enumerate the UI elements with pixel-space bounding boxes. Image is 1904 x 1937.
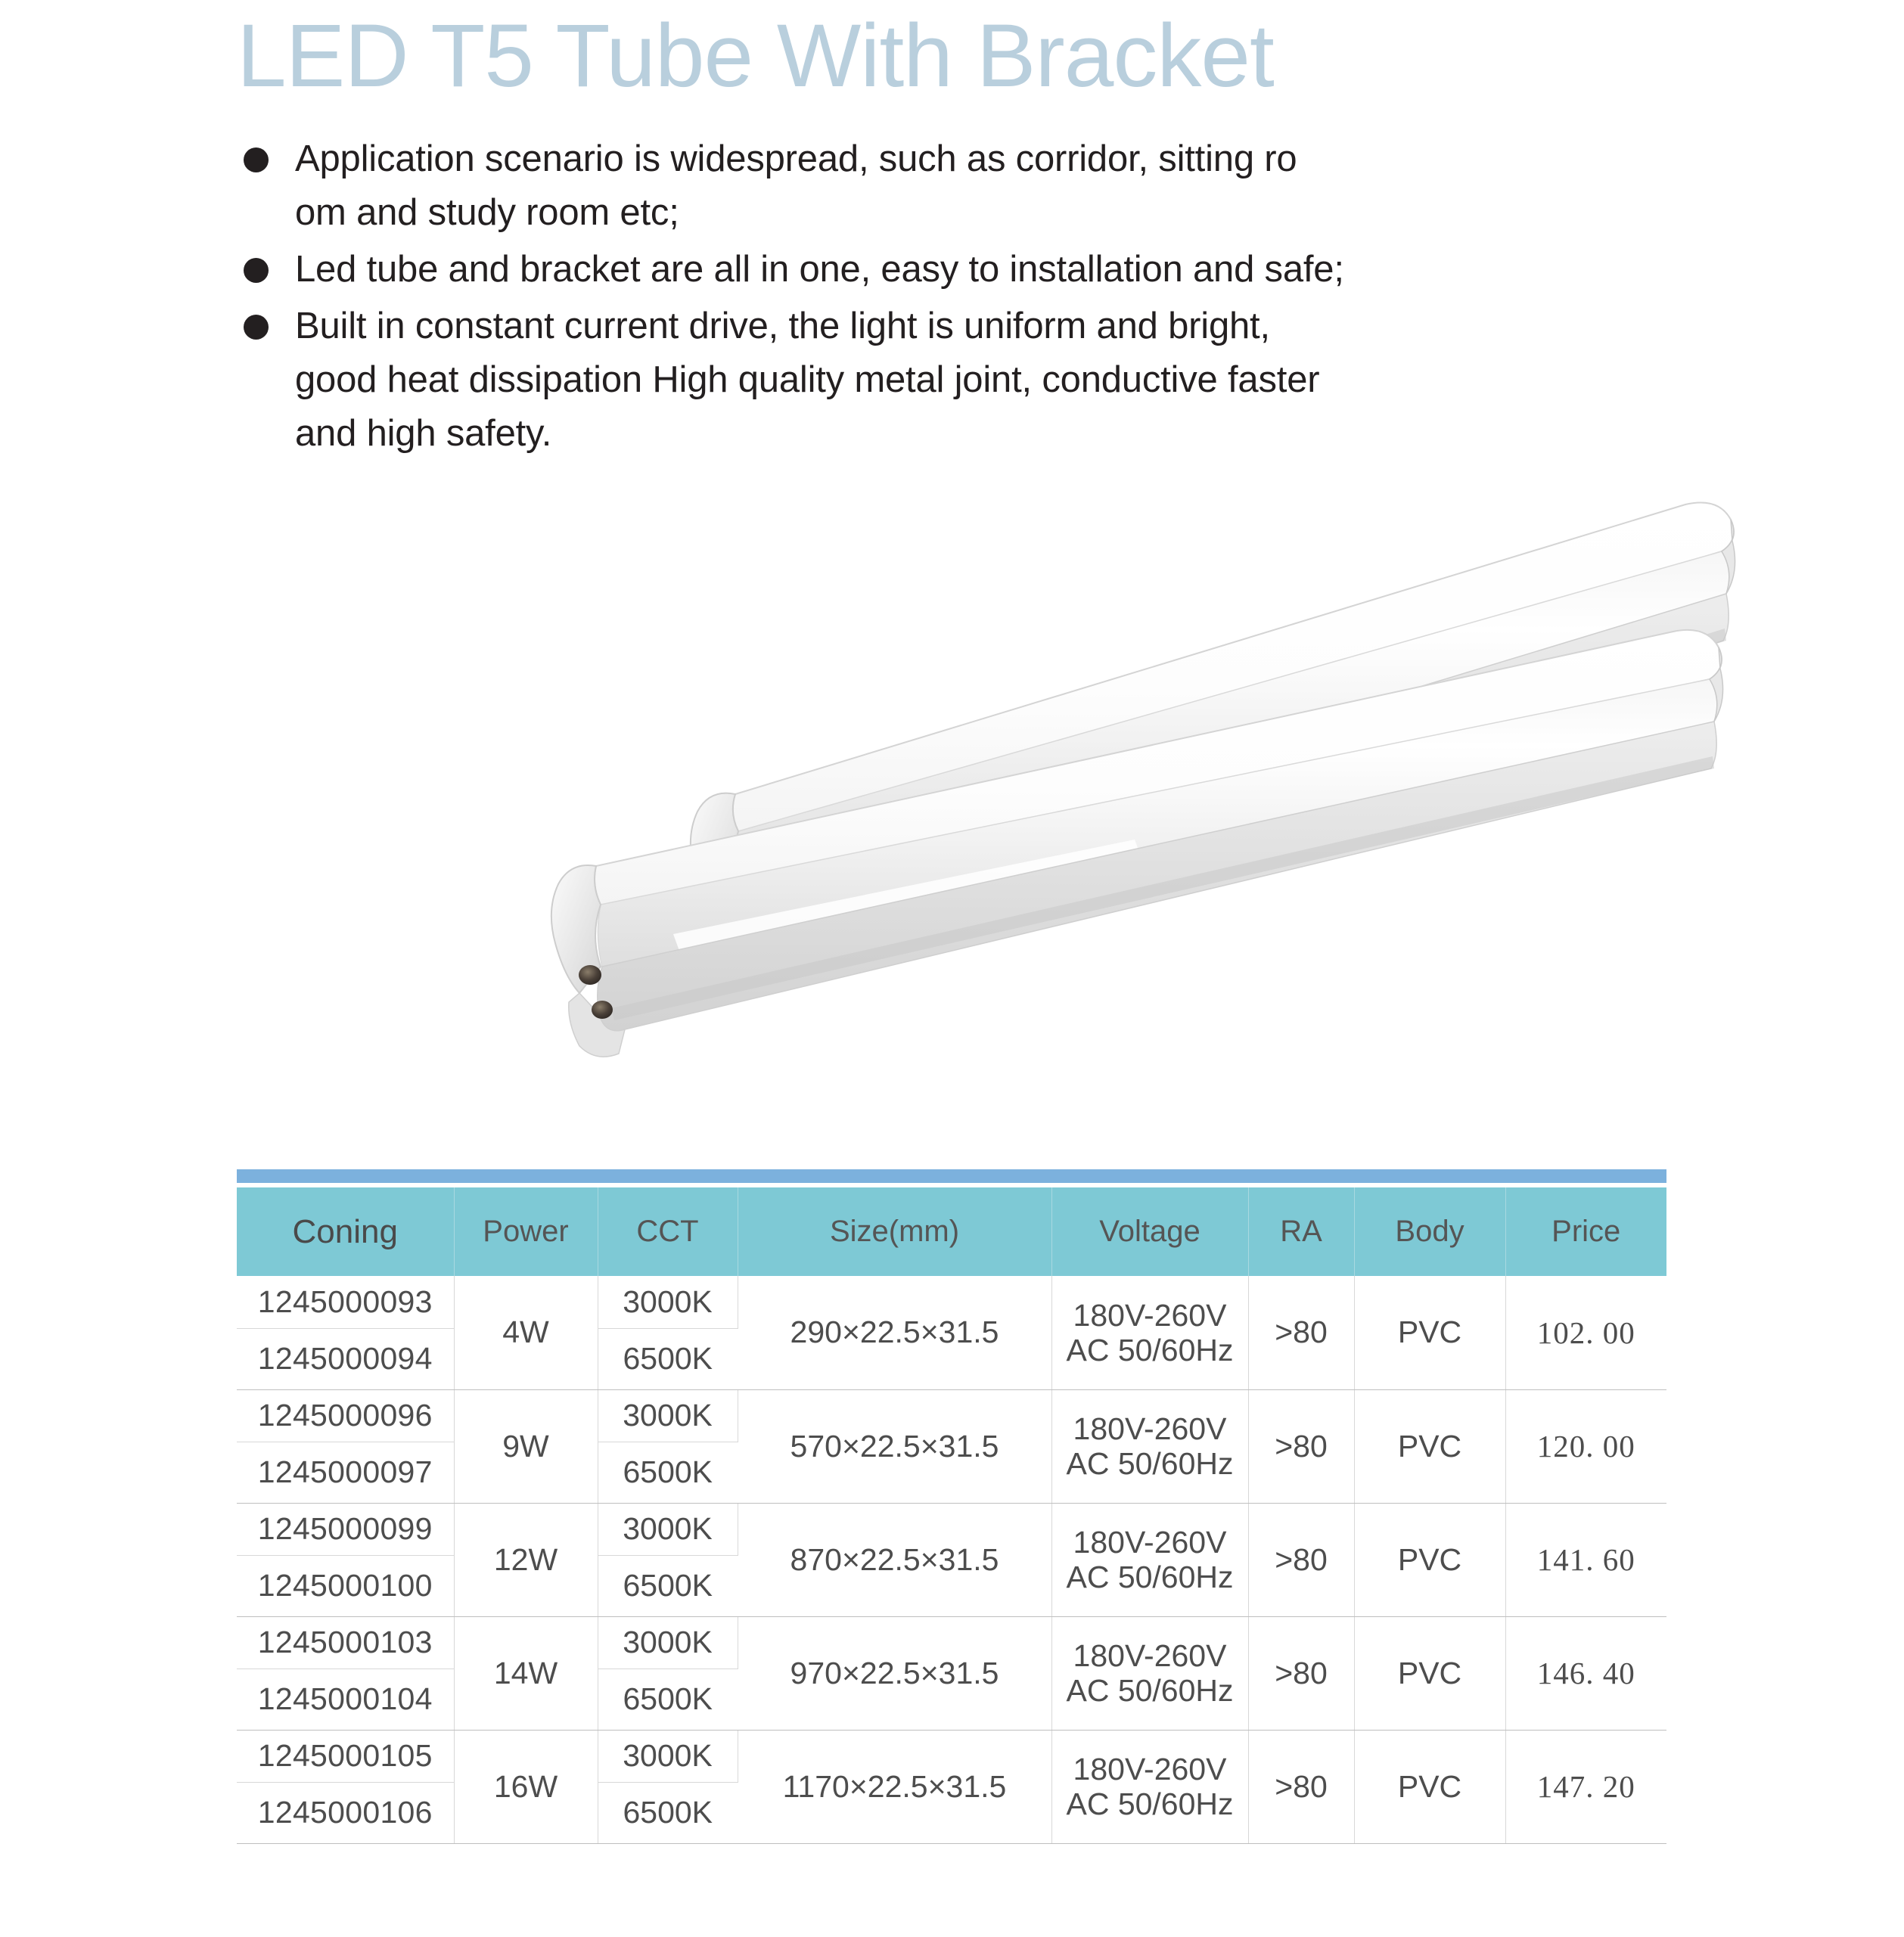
voltage-line-2: AC 50/60Hz (1052, 1333, 1248, 1367)
cell-voltage: 180V-260V AC 50/60Hz (1051, 1389, 1248, 1503)
list-item: Built in constant current drive, the lig… (241, 300, 1617, 461)
cell-coning: 1245000106 (237, 1782, 454, 1843)
table-row: 1245000103 14W 3000K 970×22.5×31.5 180V-… (237, 1616, 1666, 1668)
cell-voltage: 180V-260V AC 50/60Hz (1051, 1730, 1248, 1843)
cell-coning: 1245000096 (237, 1389, 454, 1442)
cell-price: 146. 40 (1505, 1616, 1666, 1730)
column-header-coning: Coning (237, 1187, 454, 1276)
cell-cct: 6500K (598, 1668, 738, 1730)
cell-body: PVC (1354, 1276, 1505, 1389)
cell-cct: 3000K (598, 1389, 738, 1442)
cell-ra: >80 (1248, 1616, 1354, 1730)
cell-body: PVC (1354, 1389, 1505, 1503)
cell-cct: 6500K (598, 1555, 738, 1616)
table-accent-bar (237, 1169, 1666, 1183)
feature-list: Application scenario is widespread, such… (241, 132, 1617, 464)
product-image (454, 450, 1838, 1153)
cell-coning: 1245000100 (237, 1555, 454, 1616)
voltage-line-2: AC 50/60Hz (1052, 1446, 1248, 1481)
cell-power: 4W (454, 1276, 598, 1389)
voltage-line-1: 180V-260V (1052, 1411, 1248, 1446)
bullet-dot-icon (244, 258, 269, 283)
cell-cct: 6500K (598, 1782, 738, 1843)
cell-price: 120. 00 (1505, 1389, 1666, 1503)
cell-ra: >80 (1248, 1730, 1354, 1843)
cell-coning: 1245000094 (237, 1328, 454, 1389)
connector-hole (579, 965, 601, 985)
product-spec-sheet: LED T5 Tube With Bracket Application sce… (0, 0, 1904, 1937)
column-header-ra: RA (1248, 1187, 1354, 1276)
bullet-dot-icon (244, 315, 269, 340)
cell-coning: 1245000105 (237, 1730, 454, 1782)
cell-coning: 1245000093 (237, 1276, 454, 1328)
voltage-line-1: 180V-260V (1052, 1525, 1248, 1560)
specification-table: Coning Power CCT Size(mm) Voltage RA Bod… (237, 1187, 1666, 1844)
cell-ra: >80 (1248, 1503, 1354, 1616)
cell-size: 1170×22.5×31.5 (738, 1730, 1051, 1843)
table-row: 1245000093 4W 3000K 290×22.5×31.5 180V-2… (237, 1276, 1666, 1328)
cell-cct: 3000K (598, 1503, 738, 1555)
cell-ra: >80 (1248, 1389, 1354, 1503)
table-row: 1245000105 16W 3000K 1170×22.5×31.5 180V… (237, 1730, 1666, 1782)
cell-price: 147. 20 (1505, 1730, 1666, 1843)
cell-cct: 3000K (598, 1616, 738, 1668)
table-row: 1245000096 9W 3000K 570×22.5×31.5 180V-2… (237, 1389, 1666, 1442)
list-item: Led tube and bracket are all in one, eas… (241, 243, 1617, 296)
cell-voltage: 180V-260V AC 50/60Hz (1051, 1276, 1248, 1389)
cell-coning: 1245000104 (237, 1668, 454, 1730)
column-header-voltage: Voltage (1051, 1187, 1248, 1276)
voltage-line-2: AC 50/60Hz (1052, 1786, 1248, 1821)
cell-cct: 6500K (598, 1328, 738, 1389)
table-row: 1245000099 12W 3000K 870×22.5×31.5 180V-… (237, 1503, 1666, 1555)
feature-text: Led tube and bracket are all in one, eas… (295, 243, 1617, 296)
cell-body: PVC (1354, 1616, 1505, 1730)
cell-power: 14W (454, 1616, 598, 1730)
cell-cct: 6500K (598, 1442, 738, 1503)
cell-coning: 1245000099 (237, 1503, 454, 1555)
column-header-body: Body (1354, 1187, 1505, 1276)
table-header-row: Coning Power CCT Size(mm) Voltage RA Bod… (237, 1187, 1666, 1276)
cell-power: 16W (454, 1730, 598, 1843)
page-title: LED T5 Tube With Bracket (237, 6, 1274, 106)
cell-size: 970×22.5×31.5 (738, 1616, 1051, 1730)
cell-size: 290×22.5×31.5 (738, 1276, 1051, 1389)
feature-text: Application scenario is widespread, such… (295, 132, 1617, 240)
bullet-dot-icon (244, 147, 269, 172)
column-header-size: Size(mm) (738, 1187, 1051, 1276)
voltage-line-1: 180V-260V (1052, 1638, 1248, 1673)
cell-size: 570×22.5×31.5 (738, 1389, 1051, 1503)
connector-hole (592, 1001, 613, 1019)
cell-size: 870×22.5×31.5 (738, 1503, 1051, 1616)
cell-price: 102. 00 (1505, 1276, 1666, 1389)
feature-text: Built in constant current drive, the lig… (295, 300, 1617, 461)
column-header-power: Power (454, 1187, 598, 1276)
cell-coning: 1245000097 (237, 1442, 454, 1503)
cell-coning: 1245000103 (237, 1616, 454, 1668)
cell-price: 141. 60 (1505, 1503, 1666, 1616)
cell-body: PVC (1354, 1503, 1505, 1616)
cell-body: PVC (1354, 1730, 1505, 1843)
voltage-line-2: AC 50/60Hz (1052, 1673, 1248, 1708)
cell-ra: >80 (1248, 1276, 1354, 1389)
list-item: Application scenario is widespread, such… (241, 132, 1617, 240)
column-header-price: Price (1505, 1187, 1666, 1276)
voltage-line-1: 180V-260V (1052, 1752, 1248, 1786)
cell-cct: 3000K (598, 1730, 738, 1782)
voltage-line-1: 180V-260V (1052, 1298, 1248, 1333)
cell-voltage: 180V-260V AC 50/60Hz (1051, 1503, 1248, 1616)
cell-voltage: 180V-260V AC 50/60Hz (1051, 1616, 1248, 1730)
cell-power: 12W (454, 1503, 598, 1616)
column-header-cct: CCT (598, 1187, 738, 1276)
voltage-line-2: AC 50/60Hz (1052, 1560, 1248, 1594)
cell-power: 9W (454, 1389, 598, 1503)
cell-cct: 3000K (598, 1276, 738, 1328)
